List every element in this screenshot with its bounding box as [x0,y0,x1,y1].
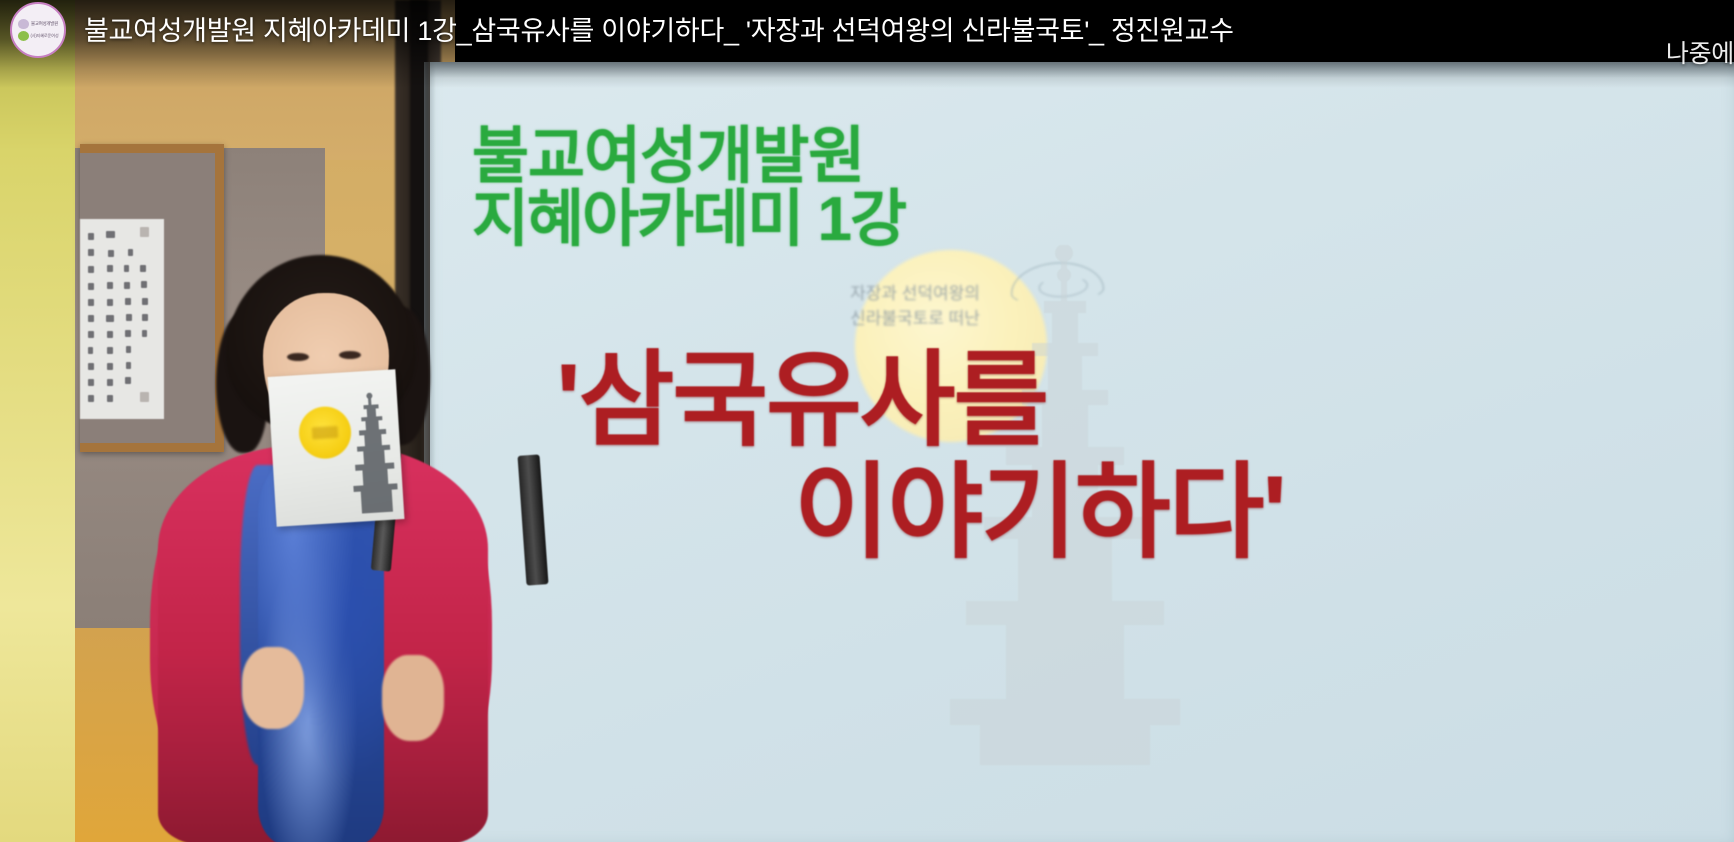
hand-left [242,647,304,729]
letterbox-left [0,0,75,842]
video-frame[interactable]: 불교여성개발원 지혜아카데미 1강 자장과 선덕여왕의 신라불국토로 떠난 '삼… [0,0,1734,842]
watch-later-label[interactable]: 나중에 [1666,34,1734,70]
avatar-line2: (사)지혜로운여성 [31,34,59,38]
hand-right [382,655,444,741]
speaker-person [130,255,530,842]
screen-top-shadow [430,62,1734,78]
slide-subtitle-line2: 신라불국토로 떠난 [800,307,1030,332]
avatar-lotus-icon [18,19,29,29]
video-title[interactable]: 불교여성개발원 지혜아카데미 1강_삼국유사를 이야기하다_ '자장과 선덕여왕… [84,0,1234,62]
youtube-video-player[interactable]: 불교여성개발원 지혜아카데미 1강 자장과 선덕여왕의 신라불국토로 떠난 '삼… [0,0,1734,842]
player-top-bar: 불교여성개발원 (사)지혜로운여성 불교여성개발원 지혜아카데미 1강_삼국유사… [0,0,1734,62]
slide-green-heading: 불교여성개발원 지혜아카데미 1강 [472,125,1172,251]
slide-subtitle-line1: 자장과 선덕여왕의 [800,282,1030,307]
slide-subtitle: 자장과 선덕여왕의 신라불국토로 떠난 [800,282,1030,331]
slide-red-line2: 이야기하다' [556,457,1456,569]
slide-red-line1: '삼국유사를 [556,343,1047,459]
held-book [268,369,405,527]
slide-green-line2: 지혜아카데미 1강 [472,188,1172,251]
avatar-leaf-icon [18,31,29,41]
channel-avatar-icon[interactable]: 불교여성개발원 (사)지혜로운여성 [10,2,66,58]
slide-green-line1: 불교여성개발원 [472,125,1172,188]
slide-red-heading: '삼국유사를 이야기하다' [556,345,1456,570]
book-pagoda-icon [347,391,400,514]
book-sun-graphic [298,405,353,460]
avatar-line1: 불교여성개발원 [31,22,58,26]
